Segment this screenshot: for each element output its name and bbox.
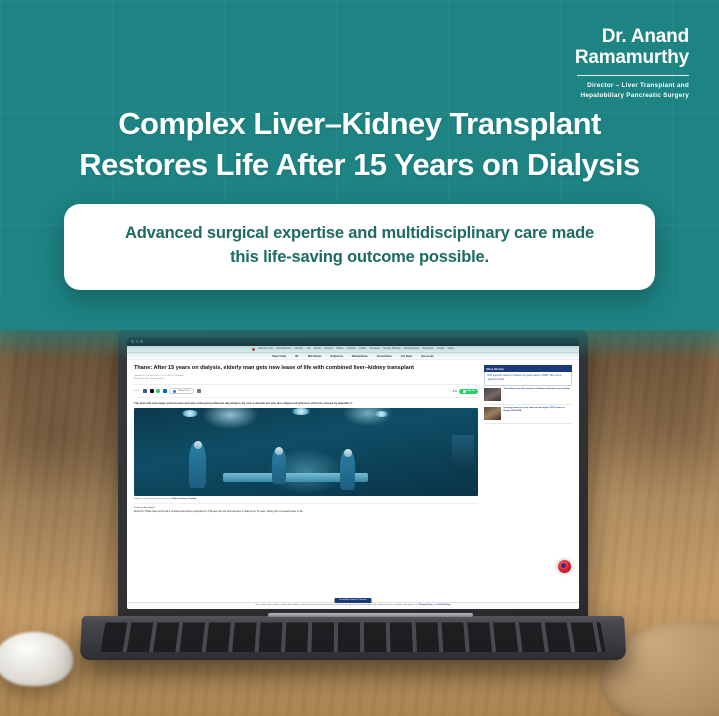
- follow-label: Follow Us On: [178, 390, 190, 392]
- facebook-icon[interactable]: [143, 389, 147, 393]
- follow-us-button[interactable]: Follow Us On: [169, 388, 194, 395]
- caption-credit: Photo Courtesy: Pixabay: [172, 498, 197, 500]
- article-sidebar: More Stories BJP appoints Ganesh Khankar…: [484, 365, 572, 517]
- brand-name-line2: Ramamurthy: [575, 47, 689, 68]
- byline-author: Mid-day Online Correspondent: [134, 378, 478, 381]
- article-layout: Thane: After 15 years on dialysis, elder…: [127, 360, 579, 517]
- laptop-hinge: [268, 613, 473, 617]
- follow-icon: [173, 390, 176, 393]
- laptop-lid: Mumbai news Entertainment Lifestyle Life…: [118, 330, 588, 620]
- standfirst-line2: decade but was also diagnosed with liver…: [255, 401, 352, 405]
- article-headline-line2: lease of life with combined liver–kidney…: [281, 365, 414, 371]
- caption-text: Image for representational purpose only.: [134, 498, 172, 500]
- subtitle-card: Advanced surgical expertise and multidis…: [64, 204, 655, 290]
- surgical-lamp-icon: [182, 410, 198, 417]
- copy-link-icon[interactable]: [197, 389, 201, 393]
- article-headline: Thane: After 15 years on dialysis, elder…: [134, 365, 478, 372]
- share-right-group: A A Join Us: [453, 389, 478, 394]
- brand-name: Dr. Anand Ramamurthy: [575, 26, 689, 69]
- brand-block: Dr. Anand Ramamurthy Director – Liver Tr…: [575, 26, 689, 100]
- surgeon-figure: [272, 448, 286, 484]
- page-title-line2: Restores Life After 15 Years on Dialysis: [34, 145, 685, 186]
- surgeon-head: [344, 449, 352, 457]
- byline-date: Updated on: 28 April 2025, 01:47 PM IST …: [134, 375, 183, 377]
- cookie-policy-link[interactable]: Cookie Policy: [437, 604, 450, 606]
- story-title: Tara Sutaria says film romance's birthda…: [504, 388, 570, 401]
- laptop-keyboard: [100, 622, 605, 651]
- article-headline-line1: Thane: After 15 years on dialysis, elder…: [134, 365, 280, 371]
- brand-subtitle: Director – Liver Transplant and Hepatobi…: [575, 81, 689, 100]
- surgical-lamp-icon: [375, 411, 388, 417]
- sidebar-story-item[interactable]: Housing income are host ready despite hi…: [484, 405, 572, 424]
- surgeon-figure: [340, 450, 355, 490]
- surgeon-figure: [189, 442, 206, 488]
- article-paragraph: Doctors in Thane have performed a combin…: [134, 511, 478, 515]
- brand-name-line1: Dr. Anand: [575, 26, 689, 47]
- article-main-column: Thane: After 15 years on dialysis, elder…: [134, 365, 478, 517]
- article-byline: Updated on: 28 April 2025, 01:47 PM IST …: [134, 375, 478, 382]
- more-stories-lead-link[interactable]: BJP appoints Ganesh Khankar as group lea…: [488, 374, 569, 382]
- brand-divider: [577, 75, 689, 77]
- article-standfirst: The man had end-stage renal disease and …: [134, 401, 478, 405]
- brand-subtitle-line2: Hepatobiliary Pancreatic Surgery: [575, 91, 689, 101]
- standfirst-line1: The man had end-stage renal disease and …: [134, 401, 254, 405]
- laptop-screen: Mumbai news Entertainment Lifestyle Life…: [127, 337, 579, 609]
- medical-monitor: [452, 435, 474, 469]
- privacy-policy-link[interactable]: Privacy Policy: [419, 604, 433, 606]
- cookie-notice-end: .: [450, 604, 451, 606]
- more-stories-box: BJP appoints Ganesh Khankar as group lea…: [484, 372, 572, 386]
- linkedin-icon[interactable]: [163, 389, 167, 393]
- laptop-base: [80, 616, 627, 660]
- accept-cookies-button[interactable]: Accept All Cookies & Continue: [334, 598, 371, 602]
- page-title: Complex Liver–Kidney Transplant Restores…: [0, 104, 719, 186]
- cookie-consent-bar: Accept All Cookies & Continue This websi…: [127, 602, 579, 609]
- surgeon-head: [275, 447, 283, 455]
- whatsapp-join-label: Join Us: [467, 390, 475, 392]
- image-caption: Image for representational purpose only.…: [134, 496, 478, 504]
- sidebar-story-item[interactable]: Tara Sutaria says film romance's birthda…: [484, 386, 572, 405]
- floating-action-badge[interactable]: [558, 560, 571, 573]
- more-stories-heading: More Stories: [484, 365, 572, 372]
- surgical-lamp-icon: [292, 408, 310, 415]
- surgeon-head: [194, 441, 202, 449]
- laptop: Mumbai news Entertainment Lifestyle Life…: [118, 330, 588, 630]
- whatsapp-icon[interactable]: [156, 389, 160, 393]
- subtitle-line2: this life-saving outcome possible.: [90, 246, 629, 270]
- computer-mouse: [0, 632, 73, 686]
- story-thumbnail: [484, 407, 501, 420]
- whatsapp-small-icon: [463, 390, 466, 393]
- whatsapp-join-button[interactable]: Join Us: [459, 389, 478, 394]
- article-hero-image: [134, 408, 478, 496]
- teal-fade-edge: [0, 300, 719, 360]
- share-label: Share: [134, 390, 140, 392]
- story-title: Housing income are host ready despite hi…: [504, 407, 573, 420]
- story-thumbnail: [484, 388, 501, 401]
- page-title-line1: Complex Liver–Kidney Transplant: [34, 104, 685, 145]
- cookie-notice-text: This website uses cookies or similar tec…: [255, 604, 419, 606]
- text-size-toggle[interactable]: A A: [453, 390, 457, 393]
- brand-subtitle-line1: Director – Liver Transplant and: [575, 81, 689, 91]
- news-website: Mumbai news Entertainment Lifestyle Life…: [127, 337, 579, 609]
- share-row: Share Follow Us On A A: [134, 384, 478, 398]
- subtitle-line1: Advanced surgical expertise and multidis…: [90, 222, 629, 246]
- twitter-icon[interactable]: [150, 389, 154, 393]
